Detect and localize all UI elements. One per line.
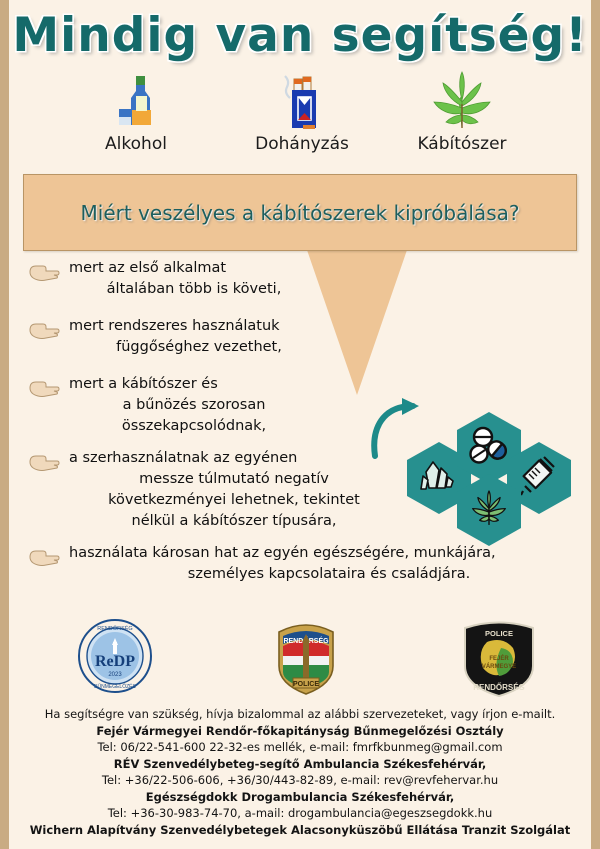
banner-question-text: Miért veszélyes a kábítószerek kipróbálá… xyxy=(81,201,520,225)
list-item-text: mert az első alkalmat általában több is … xyxy=(21,258,319,300)
alcohol-bottle-icon xyxy=(61,70,211,132)
contact-line: Egészségdokk Drogambulancia Székesfehérv… xyxy=(9,789,591,806)
poster-root: Mindig van segítség! Alkohol xyxy=(0,0,600,849)
pointing-hand-icon xyxy=(27,320,61,342)
svg-text:2023: 2023 xyxy=(108,672,122,678)
svg-text:RENDŐRSÉG: RENDŐRSÉG xyxy=(473,683,525,692)
list-item-text: mert rendszeres használatuk függőséghez … xyxy=(21,316,329,358)
page-title: Mindig van segítség! xyxy=(9,8,591,63)
substance-item-smoking: Dohányzás xyxy=(227,70,377,154)
hungarian-police-crest-logo: RENDŐRSÉG POLICE xyxy=(271,616,341,703)
pointing-hand-icon xyxy=(27,378,61,400)
svg-text:ReDP: ReDP xyxy=(95,653,135,670)
list-item: mert rendszeres használatuk függőséghez … xyxy=(21,316,581,358)
cannabis-leaf-icon xyxy=(468,488,510,533)
svg-text:RENDŐRSÉG: RENDŐRSÉG xyxy=(97,625,132,632)
crystal-meth-icon xyxy=(419,458,459,499)
pills-icon xyxy=(468,426,510,471)
svg-text:POLICE: POLICE xyxy=(293,681,319,688)
contact-line[interactable]: Tel: +36/22-506-606, +36/30/443-82-89, e… xyxy=(9,772,591,789)
substance-label: Alkohol xyxy=(61,134,211,154)
poster-canvas: Mindig van segítség! Alkohol xyxy=(9,0,591,849)
contact-line: RÉV Szenvedélybeteg-segítő Ambulancia Sz… xyxy=(9,756,591,773)
contact-block: Ha segítségre van szükség, hívja bizalom… xyxy=(9,706,591,838)
substance-item-alcohol: Alkohol xyxy=(61,70,211,154)
cannabis-leaf-icon xyxy=(387,70,537,132)
contact-line[interactable]: Tel: +36-30-983-74-70, a-mail: drogambul… xyxy=(9,805,591,822)
substance-label: Kábítószer xyxy=(387,134,537,154)
list-item-text: a szerhasználatnak az egyénen messze túl… xyxy=(21,448,399,532)
list-item-text: mert a kábítószer és a bűnözés szorosan … xyxy=(21,374,319,437)
svg-text:VÁRMEGYE: VÁRMEGYE xyxy=(482,663,516,670)
cigarette-pack-icon xyxy=(227,70,377,132)
syringe-icon xyxy=(519,455,559,502)
contact-line: Fejér Vármegyei Rendőr-főkapitányság Bűn… xyxy=(9,723,591,740)
substance-label: Dohányzás xyxy=(227,134,377,154)
pointing-hand-icon xyxy=(27,262,61,284)
contact-line[interactable]: Tel: 06/22-541-600 22-32-es mellék, e-ma… xyxy=(9,739,591,756)
fejer-county-police-patch-logo: POLICE FEJÉR VÁRMEGYE RENDŐRSÉG xyxy=(457,614,541,703)
substance-row: Alkohol Dohányzás xyxy=(9,70,591,165)
drug-hexagon-cluster xyxy=(407,410,582,570)
svg-text:POLICE: POLICE xyxy=(485,629,513,638)
pointing-hand-icon xyxy=(27,452,61,474)
redp-seal-logo: ReDP 2023 RENDŐRSÉG BŰNMEGELŐZÉS xyxy=(77,618,153,699)
svg-text:BŰNMEGELŐZÉS: BŰNMEGELŐZÉS xyxy=(94,683,136,690)
pointing-hand-icon xyxy=(27,547,61,569)
contact-line: Ha segítségre van szükség, hívja bizalom… xyxy=(9,706,591,723)
substance-item-drug: Kábítószer xyxy=(387,70,537,154)
svg-text:FEJÉR: FEJÉR xyxy=(489,654,509,662)
list-item: mert az első alkalmat általában több is … xyxy=(21,258,581,300)
question-banner: Miért veszélyes a kábítószerek kipróbálá… xyxy=(23,174,577,251)
contact-line: Wichern Alapítvány Szenvedélybetegek Ala… xyxy=(9,822,591,839)
logo-row: ReDP 2023 RENDŐRSÉG BŰNMEGELŐZÉS RENDŐRS… xyxy=(9,618,591,698)
